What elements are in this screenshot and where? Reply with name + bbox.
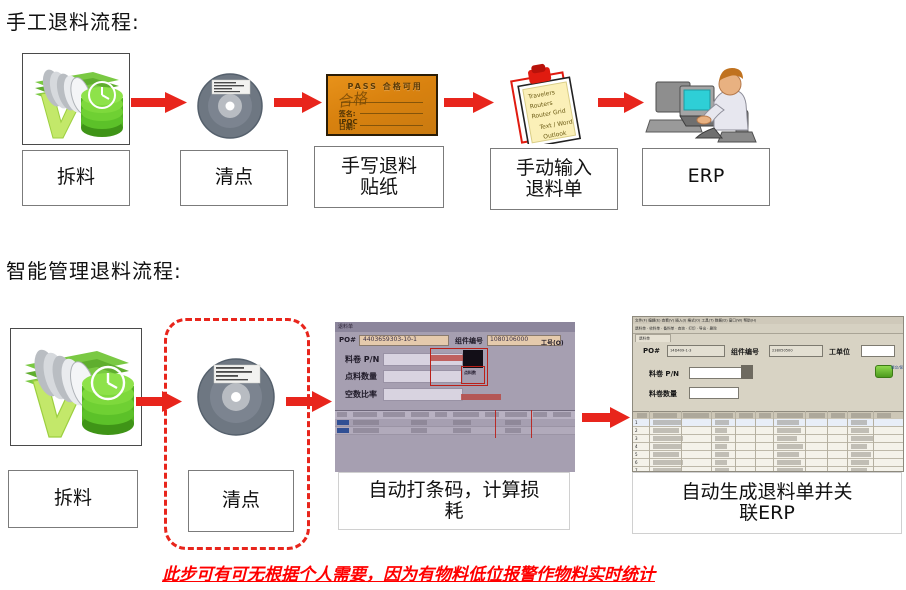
erp-workorder-input[interactable] bbox=[861, 345, 895, 357]
manual-step-5-image bbox=[644, 58, 768, 146]
photo-tab-label: 退料单 bbox=[338, 323, 353, 330]
manual-step-3-label-line2: 贴纸 bbox=[360, 177, 398, 198]
smart-step-4-label-line2: 联ERP bbox=[739, 503, 795, 524]
erp-menubar-text: 文件(F) 编辑(E) 查看(V) 插入(I) 格式(O) 工具(T) 数据(D… bbox=[635, 318, 756, 323]
sticker-field-date: 日期: bbox=[339, 122, 356, 132]
manual-arrow-3 bbox=[444, 88, 496, 118]
erp-toolbar-text: 退料单 · 收料单 · 备料单 · 查询 · 打印 · 导出 · 删除 bbox=[635, 326, 717, 331]
manual-flow-title: 手工退料流程: bbox=[6, 6, 140, 35]
smart-arrow-3 bbox=[582, 404, 632, 432]
manual-step-2-label: 清点 bbox=[215, 167, 253, 188]
green-database-stack-icon bbox=[23, 54, 129, 144]
manual-step-1-label: 拆料 bbox=[57, 167, 95, 188]
sticker-handwriting: 合格 bbox=[335, 87, 368, 112]
manual-step-2-image bbox=[190, 68, 270, 142]
erp-table-row[interactable]: 6 bbox=[633, 459, 903, 467]
photo-grid-row bbox=[335, 427, 575, 435]
manual-step-4-caption[interactable]: 手动输入 退料单 bbox=[490, 148, 618, 210]
photo-field-2-label: 点料数量 bbox=[345, 371, 377, 382]
smart-arrow-1 bbox=[136, 388, 184, 416]
manual-arrow-1 bbox=[131, 88, 189, 118]
smart-step-2-caption[interactable]: 清点 bbox=[188, 470, 294, 532]
orange-pass-sticker-icon: PASS 合格可用 合格 签名: IPQC 日期: bbox=[326, 74, 438, 136]
erp-table-row[interactable]: 3 bbox=[633, 435, 903, 443]
smart-step-1-image bbox=[10, 328, 142, 446]
erp-tab[interactable]: 退料单 bbox=[635, 334, 671, 342]
erp-table-row[interactable]: 1 bbox=[633, 419, 903, 427]
manual-step-3-label-line1: 手写退料 bbox=[341, 156, 417, 177]
erp-field-1-label: 料卷 P/N bbox=[649, 369, 679, 379]
photo-grid-row bbox=[335, 419, 575, 427]
slide-canvas: 手工退料流程: bbox=[0, 0, 906, 590]
manual-step-4-image: Travelers Routers Router Grid Text / Wor… bbox=[498, 62, 592, 144]
erp-workorder-label: 工单位 bbox=[829, 347, 850, 357]
erp-table-row[interactable]: 2 bbox=[633, 427, 903, 435]
erp-field-1-input[interactable] bbox=[689, 367, 743, 379]
smart-arrow-2 bbox=[286, 388, 334, 416]
erp-po-label: PO# bbox=[643, 347, 660, 355]
erp-component-label: 组件编号 bbox=[731, 347, 759, 357]
smart-step-3-image: 退料单 PO# 4403659303-10-1 组件编号 1080106000 … bbox=[335, 322, 575, 472]
erp-table-row[interactable]: 5 bbox=[633, 451, 903, 459]
manual-step-1-caption[interactable]: 拆料 bbox=[22, 150, 130, 206]
smd-reel-icon bbox=[190, 68, 270, 142]
photo-field-1-label: 料卷 P/N bbox=[345, 354, 379, 365]
photo-component-value: 1080106000 bbox=[490, 336, 528, 343]
smd-reel-icon bbox=[190, 352, 282, 438]
smart-step-2-label: 清点 bbox=[222, 490, 260, 511]
smart-step-1-label: 拆料 bbox=[54, 488, 92, 509]
footnote-text: 此步可有可无根据个人需要，因为有物料低位报警作物料实时统计 bbox=[162, 560, 655, 585]
erp-component-value: 238050500 bbox=[772, 348, 793, 353]
erp-field-2-label: 料卷数量 bbox=[649, 389, 677, 399]
smart-step-4-caption[interactable]: 自动生成退料单并关 联ERP bbox=[632, 472, 902, 534]
smart-step-4-image: 文件(F) 编辑(E) 查看(V) 插入(I) 格式(O) 工具(T) 数据(D… bbox=[632, 316, 904, 472]
photo-workorder-label: 工号(O) bbox=[541, 338, 564, 347]
photo-field-3-label: 空数比率 bbox=[345, 389, 377, 400]
photo-grid-header bbox=[335, 410, 575, 419]
smart-step-1-caption[interactable]: 拆料 bbox=[8, 470, 138, 528]
manual-step-4-label-line1: 手动输入 bbox=[516, 158, 592, 179]
erp-table-row[interactable]: 4 bbox=[633, 443, 903, 451]
smart-step-3-caption[interactable]: 自动打条码，计算损 耗 bbox=[338, 472, 570, 530]
photo-po-value: 4403659303-10-1 bbox=[363, 336, 417, 343]
smart-step-2-image bbox=[190, 352, 282, 438]
erp-submit-label: 提交/保存 bbox=[891, 365, 904, 370]
smart-step-3-label-line1: 自动打条码，计算损 bbox=[368, 480, 539, 501]
clipboard-forms-icon: Travelers Routers Router Grid Text / Wor… bbox=[498, 62, 592, 144]
manual-step-5-label: ERP bbox=[688, 166, 725, 187]
manual-arrow-4 bbox=[598, 88, 646, 118]
manual-arrow-2 bbox=[274, 88, 324, 118]
person-at-computer-icon bbox=[644, 58, 768, 146]
smart-step-4-label-line1: 自动生成退料单并关 bbox=[681, 482, 852, 503]
manual-step-2-caption[interactable]: 清点 bbox=[180, 150, 288, 206]
manual-step-4-label-line2: 退料单 bbox=[525, 179, 582, 200]
manual-step-3-image: PASS 合格可用 合格 签名: IPQC 日期: bbox=[326, 74, 438, 136]
manual-step-5-caption[interactable]: ERP bbox=[642, 148, 770, 206]
erp-tab-label: 退料单 bbox=[639, 336, 650, 341]
smart-step-3-label-line2: 耗 bbox=[444, 501, 463, 522]
manual-step-1-image bbox=[22, 53, 130, 145]
erp-po-value: 14D409-1-3 bbox=[670, 348, 691, 353]
manual-step-3-caption[interactable]: 手写退料 贴纸 bbox=[314, 146, 444, 208]
photo-component-label: 组件编号 bbox=[455, 336, 483, 346]
smart-flow-title: 智能管理退料流程: bbox=[6, 255, 182, 284]
photo-po-label: PO# bbox=[339, 336, 356, 344]
erp-field-2-input[interactable] bbox=[689, 387, 739, 399]
green-database-stack-icon bbox=[11, 329, 141, 445]
